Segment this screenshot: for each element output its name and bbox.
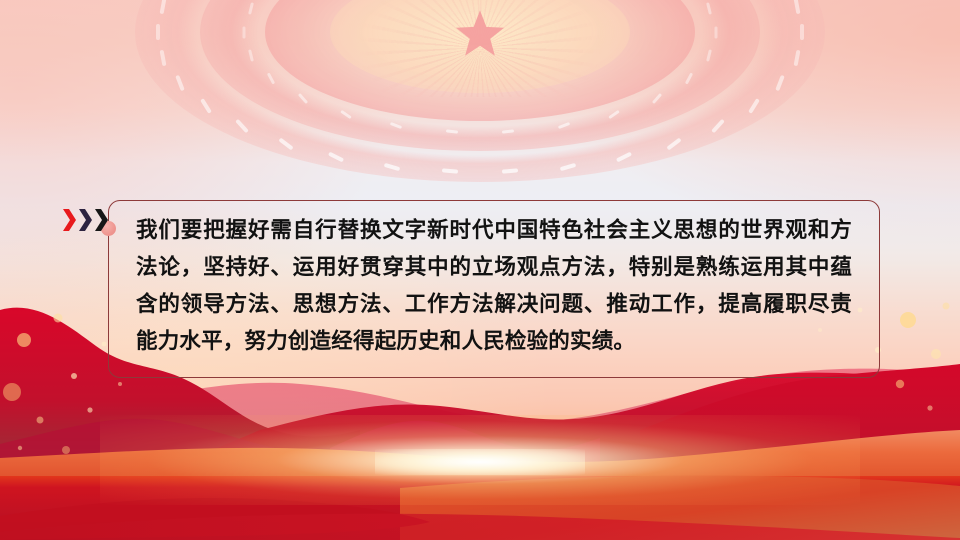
emblem-dash bbox=[685, 72, 693, 84]
emblem-dash bbox=[560, 163, 576, 171]
emblem-dash bbox=[608, 110, 620, 119]
emblem-dash bbox=[156, 24, 160, 40]
chevron-black-icon bbox=[94, 208, 109, 232]
emblem-dash bbox=[298, 93, 308, 104]
emblem-dash bbox=[502, 169, 518, 174]
emblem-dash bbox=[243, 26, 246, 38]
chevron-navy-icon bbox=[78, 208, 93, 232]
emblem-dash bbox=[248, 50, 254, 62]
emblem-dash bbox=[160, 49, 167, 65]
emblem-dash bbox=[200, 98, 212, 114]
emblem-dash bbox=[800, 24, 804, 40]
emblem-dash bbox=[793, 49, 800, 65]
emblem-dash bbox=[235, 119, 249, 134]
emblem-dash bbox=[248, 2, 254, 14]
emblem-dash bbox=[390, 122, 402, 129]
emblem-dash bbox=[652, 93, 662, 104]
chevron-arrow-group bbox=[62, 208, 109, 232]
emblem-dash bbox=[267, 72, 275, 84]
star-icon bbox=[453, 7, 507, 61]
emblem-dash bbox=[340, 110, 352, 119]
emblem-dash bbox=[328, 152, 344, 163]
emblem-dash bbox=[175, 74, 185, 90]
emblem-dash bbox=[278, 137, 293, 150]
emblem-dash bbox=[558, 122, 570, 129]
emblem-dash bbox=[615, 152, 631, 163]
emblem-dash bbox=[711, 119, 725, 134]
emblem-dash bbox=[715, 26, 718, 38]
chevron-red-icon bbox=[62, 208, 77, 232]
emblem-dash bbox=[502, 129, 514, 133]
emblem-dash bbox=[748, 98, 760, 114]
emblem-dash bbox=[160, 0, 167, 14]
emblem-dash bbox=[442, 169, 458, 174]
emblem-dash bbox=[666, 137, 681, 150]
emblem-dash bbox=[706, 50, 712, 62]
emblem-dash bbox=[706, 2, 712, 14]
emblem-dash bbox=[793, 0, 800, 14]
star-emblem-decoration bbox=[130, 0, 830, 192]
emblem-dash bbox=[384, 163, 400, 171]
slide-canvas: 我们要把握好需自行替换文字新时代中国特色社会主义思想的世界观和方法论，坚持好、运… bbox=[0, 0, 960, 540]
emblem-dash bbox=[445, 129, 457, 133]
body-paragraph: 我们要把握好需自行替换文字新时代中国特色社会主义思想的世界观和方法论，坚持好、运… bbox=[136, 212, 852, 360]
emblem-dash bbox=[775, 74, 785, 90]
